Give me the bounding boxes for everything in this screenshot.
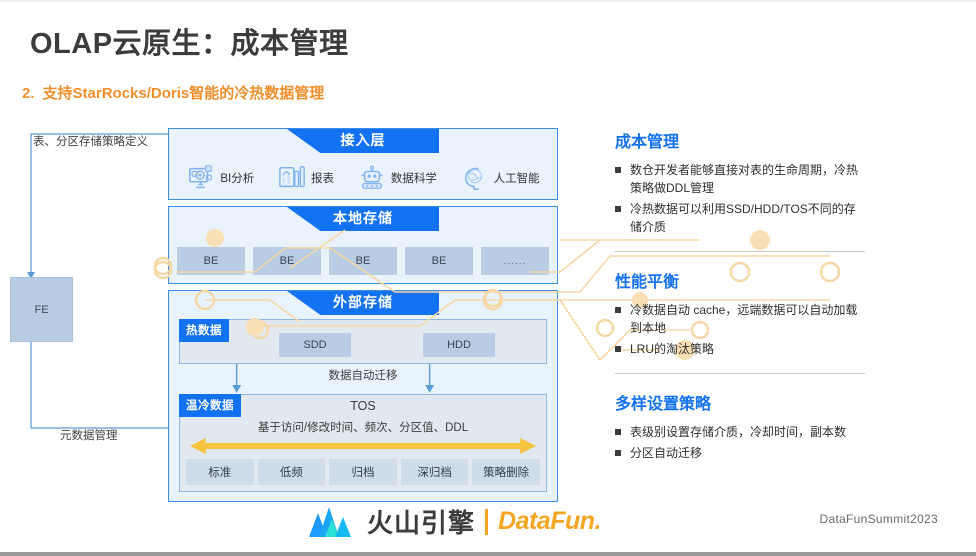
section-divider <box>615 373 865 374</box>
access-item-label: 报表 <box>311 170 334 186</box>
ribbon-external-storage: 外部存储 <box>287 291 439 315</box>
ribbon-label: 本地存储 <box>333 208 393 228</box>
hot-data-tag: 热数据 <box>179 319 229 342</box>
volcano-engine-mountain-icon <box>305 505 357 539</box>
be-node: BE <box>405 247 473 275</box>
section-heading: 多样设置策略 <box>615 390 865 414</box>
subtitle: 2. 支持StarRocks/Doris智能的冷热数据管理 <box>22 82 324 103</box>
footer-logos: 火山引擎 DataFun. <box>305 503 601 540</box>
hot-media-row: SDD HDD <box>180 332 546 358</box>
tier-double-arrow-icon <box>190 437 536 455</box>
fe-node: FE <box>10 277 73 342</box>
bullet-list: 表级别设置存储介质，冷却时间，副本数 分区自动迁移 <box>615 423 865 462</box>
bottom-bar <box>0 552 976 556</box>
hot-data-block: 热数据 SDD HDD <box>179 319 547 364</box>
bullet-list: 数仓开发者能够直接对表的生命周期，冷热策略做DDL管理 冷热数据可以利用SSD/… <box>615 161 865 236</box>
bi-analysis-icon <box>186 164 216 192</box>
be-node: BE <box>329 247 397 275</box>
brain-icon <box>460 164 490 192</box>
bullet-item: 冷数据自动 cache，远端数据可以自动加载到本地 <box>615 301 865 337</box>
access-item-label: 数据科学 <box>391 170 437 186</box>
bullet-list: 冷数据自动 cache，远端数据可以自动加载到本地 LRU的淘汰策略 <box>615 301 865 358</box>
storage-tier-row: 标准 低频 归档 深归档 策略删除 <box>186 459 540 485</box>
panel-local-storage: 本地存储 BE BE BE BE ...... <box>168 206 558 284</box>
section-performance-balance: 性能平衡 冷数据自动 cache，远端数据可以自动加载到本地 LRU的淘汰策略 <box>615 268 865 358</box>
ribbon-local-storage: 本地存储 <box>287 207 439 231</box>
page-title: OLAP云原生：成本管理 <box>30 20 349 62</box>
access-item-report: 报表 <box>277 164 334 192</box>
be-node: BE <box>177 247 245 275</box>
tier-archive: 归档 <box>329 459 397 485</box>
section-diverse-policies: 多样设置策略 表级别设置存储介质，冷却时间，副本数 分区自动迁移 <box>615 390 865 462</box>
section-cost-management: 成本管理 数仓开发者能够直接对表的生命周期，冷热策略做DDL管理 冷热数据可以利… <box>615 128 865 236</box>
robot-icon <box>357 164 387 192</box>
media-sdd: SDD <box>279 333 351 357</box>
section-divider <box>615 251 865 252</box>
logo-separator <box>485 509 488 535</box>
section-heading: 性能平衡 <box>615 268 865 292</box>
be-node: BE <box>253 247 321 275</box>
panel-external-storage: 外部存储 热数据 SDD HDD 数据自动迁移 温冷数据 TOS 基于访问/修改… <box>168 290 558 502</box>
flow-label-metadata: 元数据管理 <box>60 427 118 443</box>
report-chart-icon <box>277 164 307 192</box>
bullet-item: 分区自动迁移 <box>615 444 865 462</box>
right-content-column: 成本管理 数仓开发者能够直接对表的生命周期，冷热策略做DDL管理 冷热数据可以利… <box>615 128 865 465</box>
ribbon-access-layer: 接入层 <box>287 129 439 153</box>
be-nodes-row: BE BE BE BE ...... <box>177 247 549 275</box>
access-item-datascience: 数据科学 <box>357 164 437 192</box>
ribbon-label: 接入层 <box>341 130 386 150</box>
panel-access-layer: 接入层 BI分析 <box>168 128 558 200</box>
bullet-item: LRU的淘汰策略 <box>615 340 865 358</box>
slide-canvas: OLAP云原生：成本管理 2. 支持StarRocks/Doris智能的冷热数据… <box>0 0 976 556</box>
cold-data-tag: 温冷数据 <box>179 394 241 417</box>
access-items-row: BI分析 报表 <box>169 157 557 199</box>
migration-label: 数据自动迁移 <box>169 367 557 383</box>
bullet-item: 数仓开发者能够直接对表的生命周期，冷热策略做DDL管理 <box>615 161 865 197</box>
bullet-item: 冷热数据可以利用SSD/HDD/TOS不同的存储介质 <box>615 200 865 236</box>
access-item-ai: 人工智能 <box>460 164 540 192</box>
subtitle-text: 支持StarRocks/Doris智能的冷热数据管理 <box>43 82 325 103</box>
tier-standard: 标准 <box>186 459 254 485</box>
be-node-more: ...... <box>481 247 549 275</box>
tier-infrequent: 低频 <box>258 459 326 485</box>
access-item-bi: BI分析 <box>186 164 254 192</box>
ribbon-label: 外部存储 <box>333 292 393 312</box>
flow-label-policy: 表、分区存储策略定义 <box>33 133 148 149</box>
bullet-item: 表级别设置存储介质，冷却时间，副本数 <box>615 423 865 441</box>
tos-description: 基于访问/修改时间、频次、分区值、DDL <box>180 419 546 435</box>
tier-policy-delete: 策略删除 <box>472 459 540 485</box>
subtitle-number: 2. <box>22 85 35 102</box>
access-item-label: 人工智能 <box>494 170 540 186</box>
section-heading: 成本管理 <box>615 128 865 152</box>
volcano-engine-wordmark: 火山引擎 <box>367 503 475 540</box>
tier-deep-archive: 深归档 <box>401 459 469 485</box>
top-hairline <box>0 0 976 2</box>
summit-label: DataFunSummit2023 <box>820 512 939 526</box>
cold-data-block: 温冷数据 TOS 基于访问/修改时间、频次、分区值、DDL 标准 低频 归档 深… <box>179 394 547 492</box>
datafun-wordmark: DataFun. <box>498 507 601 536</box>
media-hdd: HDD <box>423 333 495 357</box>
access-item-label: BI分析 <box>220 170 254 186</box>
